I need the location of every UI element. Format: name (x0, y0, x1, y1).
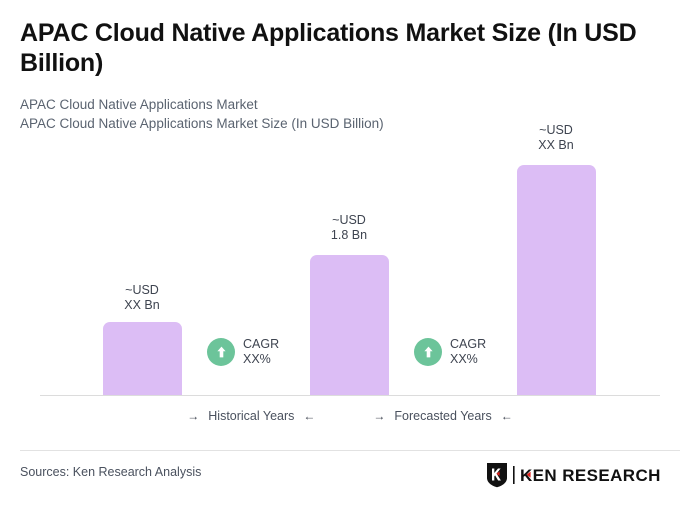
bar-chart-plot: ~USDXX Bn CAGRXX% ~USD1.8 Bn CAGRXX% ~US (0, 0, 700, 520)
bar-label-2-line1: ~USD (332, 213, 366, 227)
sources-text: Sources: Ken Research Analysis (20, 465, 201, 479)
cagr-text-line1: CAGR (243, 337, 279, 351)
x-axis-line (40, 395, 660, 396)
period-forecast: → Forecasted Years ← (373, 409, 512, 423)
cagr-text-line2: XX% (243, 352, 271, 366)
cagr-badge-historical: CAGRXX% (207, 337, 279, 367)
cagr-label-historical: CAGRXX% (243, 337, 279, 367)
bar-base (310, 255, 389, 396)
svg-text:KEN RESEARCH: KEN RESEARCH (520, 466, 661, 485)
period-labels: → Historical Years ← → Forecasted Years … (40, 409, 660, 423)
bar-label-2: ~USD1.8 Bn (304, 213, 394, 243)
bar-label-2-line2: 1.8 Bn (331, 228, 367, 242)
bar-historical (103, 322, 182, 396)
arrow-up-icon (414, 338, 442, 366)
bar-label-1: ~USDXX Bn (97, 283, 187, 313)
footer-divider (20, 450, 680, 451)
bar-label-3-line2: XX Bn (538, 138, 573, 152)
period-historical-label: Historical Years (208, 409, 294, 423)
chart-page: APAC Cloud Native Applications Market Si… (0, 0, 700, 520)
arrow-right-icon: → (373, 409, 385, 423)
period-historical: → Historical Years ← (187, 409, 315, 423)
cagr-label-forecast: CAGRXX% (450, 337, 486, 367)
cagr-text-line2: XX% (450, 352, 478, 366)
arrow-up-icon (207, 338, 235, 366)
ken-research-shield-icon (486, 462, 508, 488)
ken-research-logo: KEN RESEARCH (486, 462, 678, 488)
cagr-badge-forecast: CAGRXX% (414, 337, 486, 367)
arrow-right-icon: → (187, 409, 199, 423)
bar-label-1-line1: ~USD (125, 283, 159, 297)
arrow-left-icon: ← (501, 409, 513, 423)
cagr-text-line1: CAGR (450, 337, 486, 351)
period-forecast-label: Forecasted Years (394, 409, 491, 423)
bar-forecast (517, 165, 596, 396)
ken-research-wordmark: KEN RESEARCH (513, 465, 678, 485)
bar-label-1-line2: XX Bn (124, 298, 159, 312)
arrow-left-icon: ← (303, 409, 315, 423)
bar-label-3: ~USDXX Bn (511, 123, 601, 153)
bar-label-3-line1: ~USD (539, 123, 573, 137)
